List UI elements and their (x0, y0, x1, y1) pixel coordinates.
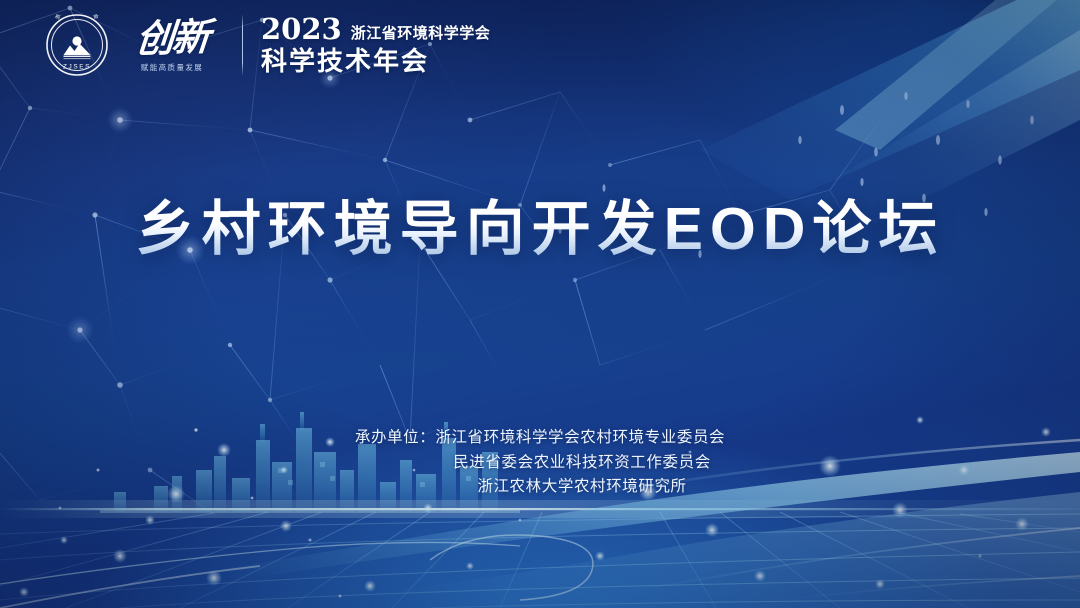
poster-header: 浙江省环境科学学会 ZJSES 创新 赋能高质量发展 2023 浙江省环境科学学… (46, 14, 490, 76)
organizer-line: 浙江农林大学农村环境研究所 (0, 475, 1080, 500)
header-event-block: 2023 浙江省环境科学学会 科学技术年会 (261, 16, 490, 74)
calligraphy-word: 创新 (134, 18, 210, 58)
header-divider (242, 14, 243, 76)
header-event-name: 科学技术年会 (261, 48, 490, 74)
zjses-emblem-icon: 浙江省环境科学学会 ZJSES (46, 14, 108, 76)
organizer-block: 承办单位：浙江省环境科学学会农村环境专业委员会 民进省委会农业科技环资工作委员会… (0, 426, 1080, 500)
page-title-text: 乡村环境导向开发EOD论坛 (136, 196, 945, 262)
header-year: 2023 (261, 16, 342, 43)
organizer-line: 民进省委会农业科技环资工作委员会 (0, 451, 1080, 476)
header-line-year-org: 2023 浙江省环境科学学会 (261, 16, 490, 43)
svg-text:ZJSES: ZJSES (63, 64, 91, 71)
innovation-calligraphy-logo: 创新 赋能高质量发展 (124, 19, 220, 72)
header-organization: 浙江省环境科学学会 (351, 26, 491, 43)
background-vignette (0, 0, 1080, 608)
calligraphy-subtitle: 赋能高质量发展 (141, 64, 203, 72)
page-title: 乡村环境导向开发EOD论坛 (0, 196, 1080, 262)
organizer-line: 承办单位：浙江省环境科学学会农村环境专业委员会 (0, 426, 1080, 451)
poster-banner: 浙江省环境科学学会 ZJSES 创新 赋能高质量发展 2023 浙江省环境科学学… (0, 0, 1080, 608)
